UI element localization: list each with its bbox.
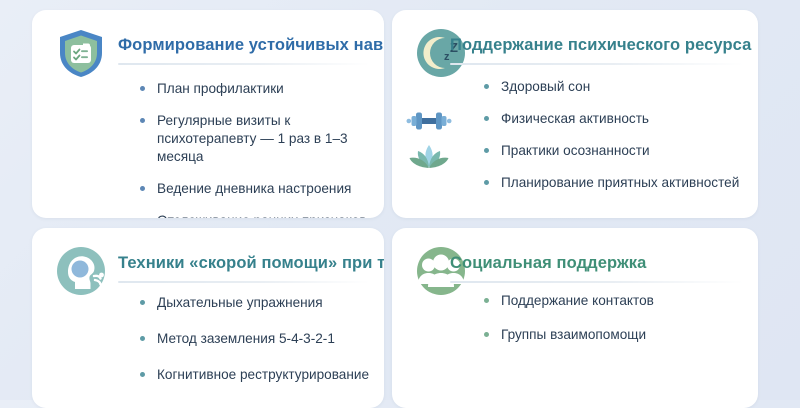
list-item-label: Отслеживание ранних признаков ухудшения: [157, 213, 367, 218]
bullet-icon: [140, 372, 145, 377]
list-item-label: Планирование приятных активностей: [501, 175, 739, 190]
title-divider: [118, 63, 370, 65]
bullet-icon: [484, 84, 489, 89]
bullet-icon: [140, 86, 145, 91]
card-social: Социальная поддержка Поддержание контакт…: [392, 228, 758, 408]
list-item: План профилактики: [140, 80, 372, 98]
bullet-icon: [140, 336, 145, 341]
list-item: Физическая активность: [484, 110, 746, 128]
bullet-icon: [140, 186, 145, 191]
lotus-icon: [406, 142, 452, 172]
bullet-icon: [484, 180, 489, 185]
list-item: Когнитивное реструктурирование: [140, 366, 372, 384]
card-anxiety: Техники «скорой помощи» при тревоге Дыха…: [32, 228, 384, 408]
list-item: Ведение дневника настроения: [140, 180, 372, 198]
card-title: Техники «скорой помощи» при тревоге: [118, 252, 370, 274]
bullet-icon: [484, 148, 489, 153]
habits-list: План профилактики Регулярные визиты к пс…: [140, 80, 372, 218]
card-resource: z Z Поддержание психического ресурса: [392, 10, 758, 218]
card-header: Формирование устойчивых навыков: [118, 34, 370, 65]
title-divider: [450, 63, 744, 65]
title-divider: [450, 281, 744, 283]
list-item: Здоровый сон: [484, 78, 746, 96]
list-item-label: Дыхательные упражнения: [157, 295, 323, 310]
card-habits: Формирование устойчивых навыков План про…: [32, 10, 384, 218]
bullet-icon: [484, 332, 489, 337]
list-item: Регулярные визиты к психотерапевту — 1 р…: [140, 112, 372, 166]
resource-list: Здоровый сон Физическая активность Практ…: [484, 78, 746, 206]
card-title: Формирование устойчивых навыков: [118, 34, 370, 56]
head-breathing-icon: [54, 244, 108, 298]
dumbbell-icon: [406, 106, 452, 136]
list-item-label: Когнитивное реструктурирование: [157, 367, 369, 382]
bullet-icon: [140, 118, 145, 123]
list-item: Метод заземления 5-4-3-2-1: [140, 330, 372, 348]
list-item-label: Физическая активность: [501, 111, 649, 126]
card-header: Поддержание психического ресурса: [450, 34, 744, 65]
infographic-canvas: Формирование устойчивых навыков План про…: [0, 0, 800, 400]
bullet-icon: [484, 298, 489, 303]
list-item-label: Регулярные визиты к психотерапевту — 1 р…: [157, 113, 348, 164]
list-item-label: Группы взаимопомощи: [501, 327, 646, 342]
list-item: Отслеживание ранних признаков ухудшения: [140, 212, 372, 218]
card-title: Поддержание психического ресурса: [450, 34, 744, 56]
list-item: Группы взаимопомощи: [484, 326, 746, 344]
anxiety-list: Дыхательные упражнения Метод заземления …: [140, 294, 372, 402]
list-item: Планирование приятных активностей: [484, 174, 746, 192]
list-item-label: Практики осознанности: [501, 143, 650, 158]
shield-checklist-icon: [54, 26, 108, 80]
list-item: Поддержание контактов: [484, 292, 746, 310]
list-item-label: Метод заземления 5-4-3-2-1: [157, 331, 335, 346]
list-item-label: Поддержание контактов: [501, 293, 654, 308]
bullet-icon: [484, 116, 489, 121]
list-item-label: План профилактики: [157, 81, 284, 96]
list-item-label: Здоровый сон: [501, 79, 590, 94]
list-item: Дыхательные упражнения: [140, 294, 372, 312]
card-header: Техники «скорой помощи» при тревоге: [118, 252, 370, 283]
bullet-icon: [140, 300, 145, 305]
card-title: Социальная поддержка: [450, 252, 744, 274]
list-item-label: Ведение дневника настроения: [157, 181, 351, 196]
list-item: Практики осознанности: [484, 142, 746, 160]
title-divider: [118, 281, 370, 283]
card-header: Социальная поддержка: [450, 252, 744, 283]
social-list: Поддержание контактов Группы взаимопомощ…: [484, 292, 746, 360]
